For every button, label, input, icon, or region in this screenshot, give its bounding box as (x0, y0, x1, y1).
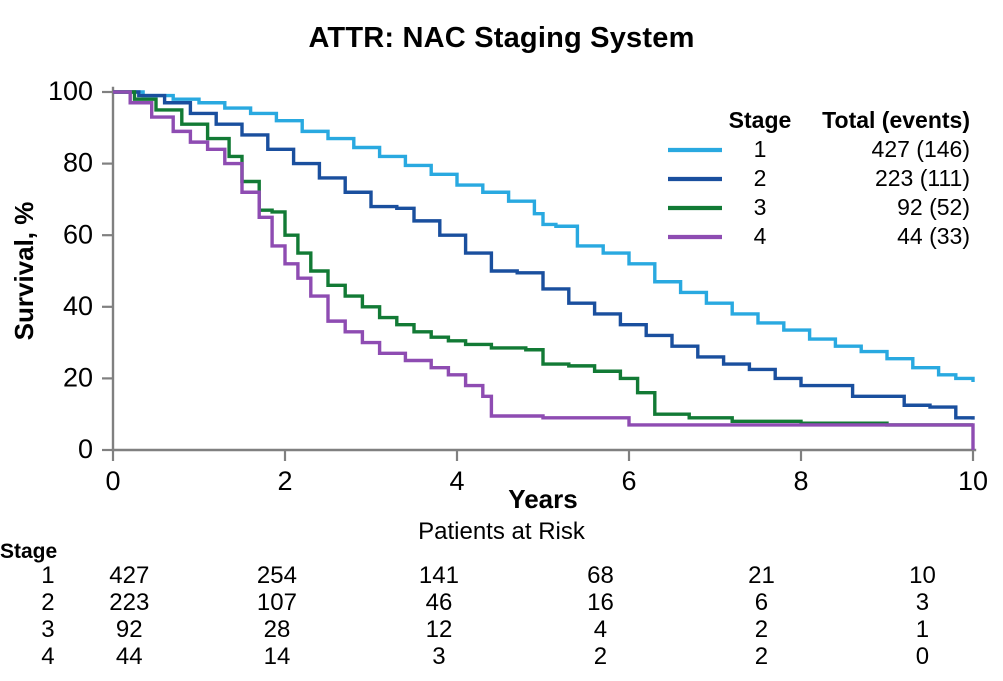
risk-table-row: 444143220 (0, 643, 1003, 670)
y-tick-label: 60 (63, 219, 93, 249)
risk-count-cell: 6 (681, 589, 842, 616)
risk-row-stage: 2 (0, 589, 63, 616)
survival-chart-figure: ATTR: NAC Staging System 020406080100024… (0, 0, 1003, 681)
risk-count-cell: 12 (358, 616, 520, 643)
risk-count-cell: 16 (520, 589, 681, 616)
risk-count-cell: 254 (196, 562, 358, 589)
axis-titles: Years Survival, % (9, 202, 578, 514)
risk-count-cell: 107 (196, 589, 358, 616)
y-tick-label: 0 (78, 434, 93, 464)
risk-count-cell: 3 (842, 589, 1003, 616)
legend-total-events-stage-1: 427 (146) (872, 136, 970, 162)
patients-at-risk-table: 1427254141682110222310746166339228124214… (0, 562, 1003, 670)
x-tick-label: 10 (958, 466, 988, 496)
risk-count-cell: 223 (63, 589, 196, 616)
risk-count-cell: 1 (842, 616, 1003, 643)
risk-table-row: 2223107461663 (0, 589, 1003, 616)
survival-curve-stage-3 (113, 92, 973, 425)
legend-label-stage-1: 1 (754, 136, 767, 162)
y-tick-label: 80 (63, 148, 93, 178)
y-tick-label: 40 (63, 291, 93, 321)
risk-count-cell: 21 (681, 562, 842, 589)
survival-curve-stage-2 (113, 92, 973, 420)
risk-count-cell: 4 (520, 616, 681, 643)
risk-table-caption: Patients at Risk (0, 518, 1003, 546)
risk-count-cell: 68 (520, 562, 681, 589)
legend-label-stage-3: 3 (754, 194, 767, 220)
survival-curves (113, 92, 973, 450)
x-tick-label: 4 (449, 466, 464, 496)
risk-table-stage-header: Stage (0, 540, 57, 564)
risk-count-cell: 3 (358, 643, 520, 670)
risk-table-row: 1427254141682110 (0, 562, 1003, 589)
risk-row-stage: 3 (0, 616, 63, 643)
x-tick-label: 2 (277, 466, 292, 496)
risk-count-cell: 46 (358, 589, 520, 616)
x-tick-label: 8 (793, 466, 808, 496)
risk-count-cell: 141 (358, 562, 520, 589)
legend-label-stage-2: 2 (754, 165, 767, 191)
legend-total-events-stage-2: 223 (111) (875, 165, 970, 191)
x-tick-label: 6 (621, 466, 636, 496)
y-axis-title: Survival, % (9, 202, 39, 341)
legend-header-total-events: Total (events) (822, 107, 970, 133)
risk-row-stage: 1 (0, 562, 63, 589)
legend-header-stage: Stage (729, 107, 792, 133)
y-tick-label: 100 (48, 76, 93, 106)
legend-total-events-stage-3: 92 (52) (897, 194, 970, 220)
risk-count-cell: 2 (681, 643, 842, 670)
risk-count-cell: 2 (681, 616, 842, 643)
risk-count-cell: 28 (196, 616, 358, 643)
chart-legend: StageTotal (events)1427 (146)2223 (111)3… (668, 107, 970, 249)
risk-count-cell: 0 (842, 643, 1003, 670)
legend-total-events-stage-4: 44 (33) (897, 223, 970, 249)
risk-table-row: 3922812421 (0, 616, 1003, 643)
risk-count-cell: 427 (63, 562, 196, 589)
legend-label-stage-4: 4 (754, 223, 767, 249)
survival-curve-stage-4 (113, 92, 973, 450)
risk-count-cell: 92 (63, 616, 196, 643)
risk-count-cell: 2 (520, 643, 681, 670)
risk-row-stage: 4 (0, 643, 63, 670)
x-tick-label: 0 (105, 466, 120, 496)
y-tick-label: 20 (63, 363, 93, 393)
risk-count-cell: 44 (63, 643, 196, 670)
risk-count-cell: 10 (842, 562, 1003, 589)
risk-count-cell: 14 (196, 643, 358, 670)
x-axis-title: Years (508, 484, 577, 514)
